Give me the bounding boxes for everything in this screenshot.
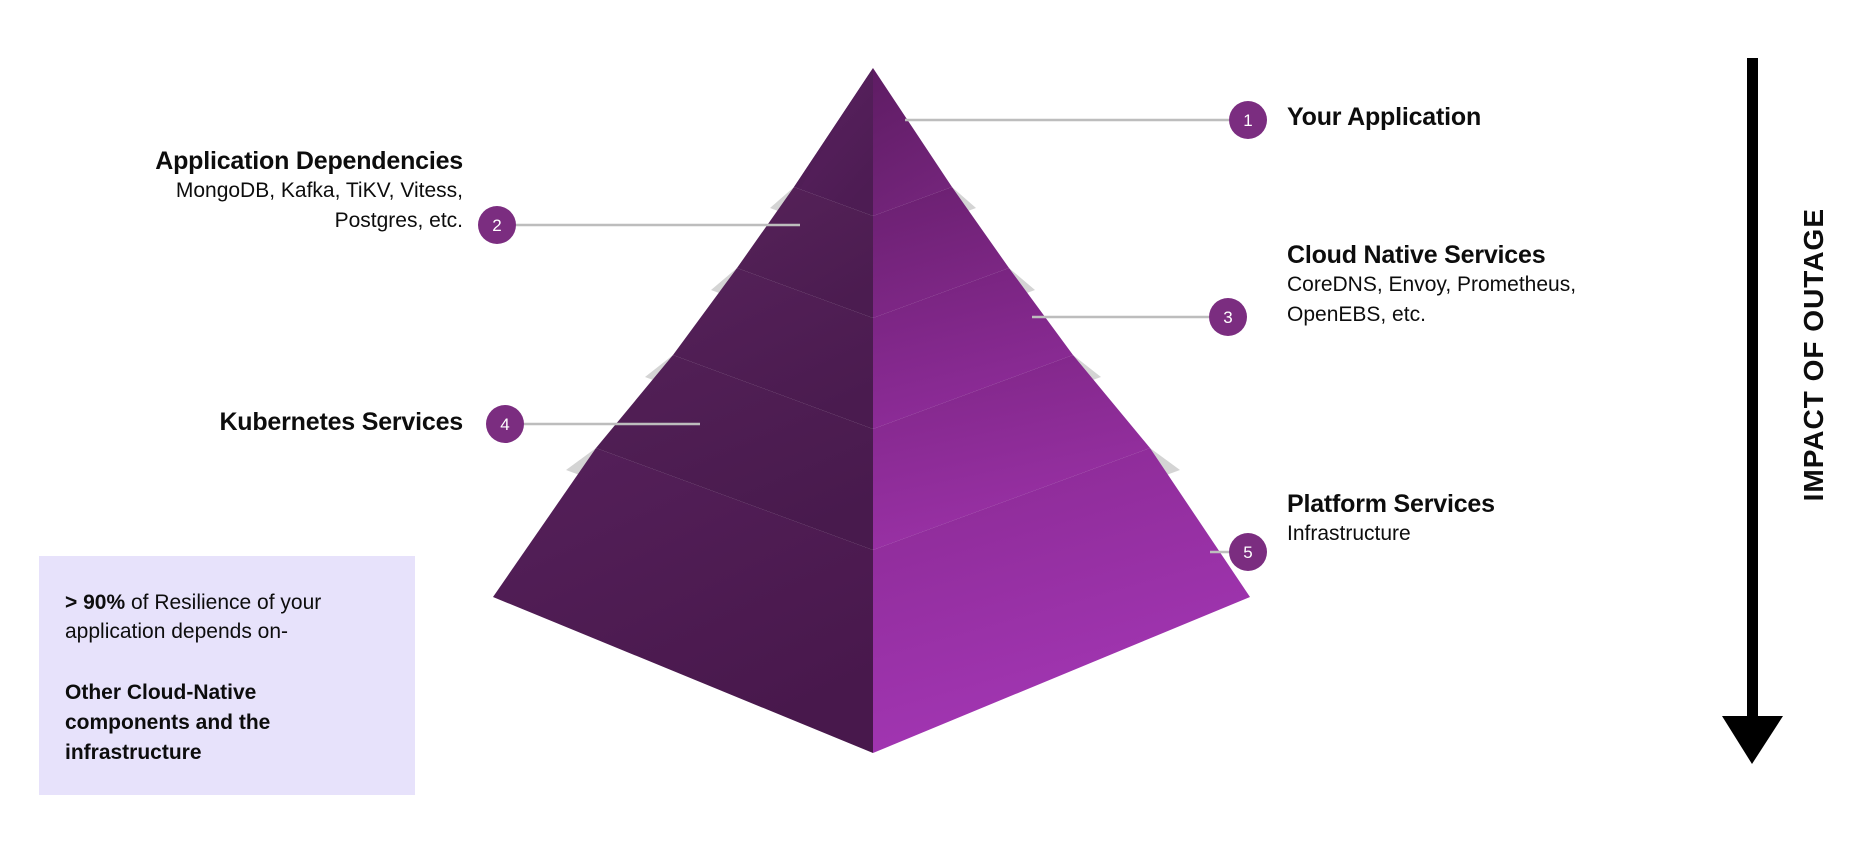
label-cloud-native-services: Cloud Native Services CoreDNS, Envoy, Pr… xyxy=(1287,241,1576,330)
pyramid-layer-1-apex xyxy=(794,68,952,216)
note-percent-value: > 90% xyxy=(65,591,125,614)
badge-3-number: 3 xyxy=(1223,309,1232,326)
badge-4-number: 4 xyxy=(500,416,509,433)
label-3-title: Cloud Native Services xyxy=(1287,241,1576,270)
label-2-subtitle-line2: Postgres, etc. xyxy=(20,206,463,236)
badge-1[interactable]: 1 xyxy=(1229,101,1267,139)
badge-4[interactable]: 4 xyxy=(486,405,524,443)
label-1-title: Your Application xyxy=(1287,103,1481,132)
label-kubernetes-services: Kubernetes Services xyxy=(20,408,463,437)
badge-2[interactable]: 2 xyxy=(478,206,516,244)
label-3-subtitle-line2: OpenEBS, etc. xyxy=(1287,300,1576,330)
label-application-dependencies: Application Dependencies MongoDB, Kafka,… xyxy=(20,147,463,236)
badge-2-number: 2 xyxy=(492,217,501,234)
note-paragraph-1: > 90% of Resilience of your application … xyxy=(65,588,385,646)
label-5-title: Platform Services xyxy=(1287,490,1495,519)
diagram-canvas: 1 Your Application 2 Application Depende… xyxy=(0,0,1858,846)
badge-5-number: 5 xyxy=(1243,544,1252,561)
note-paragraph-2: Other Cloud-Native components and the in… xyxy=(65,678,385,768)
label-your-application: Your Application xyxy=(1287,103,1481,132)
label-2-title: Application Dependencies xyxy=(20,147,463,176)
resilience-note-box: > 90% of Resilience of your application … xyxy=(39,556,415,795)
impact-arrow xyxy=(1722,58,1783,764)
label-2-subtitle-line1: MongoDB, Kafka, TiKV, Vitess, xyxy=(20,176,463,206)
label-5-subtitle: Infrastructure xyxy=(1287,519,1495,549)
impact-of-outage-label: IMPACT OF OUTAGE xyxy=(1798,208,1830,501)
label-3-subtitle-line1: CoreDNS, Envoy, Prometheus, xyxy=(1287,270,1576,300)
badge-1-number: 1 xyxy=(1243,112,1252,129)
badge-5[interactable]: 5 xyxy=(1229,533,1267,571)
label-platform-services: Platform Services Infrastructure xyxy=(1287,490,1495,549)
impact-arrow-shaft xyxy=(1747,58,1758,724)
badge-3[interactable]: 3 xyxy=(1209,298,1247,336)
impact-of-outage-text: IMPACT OF OUTAGE xyxy=(1798,208,1829,501)
label-4-title: Kubernetes Services xyxy=(20,408,463,437)
impact-arrow-head xyxy=(1722,716,1783,764)
